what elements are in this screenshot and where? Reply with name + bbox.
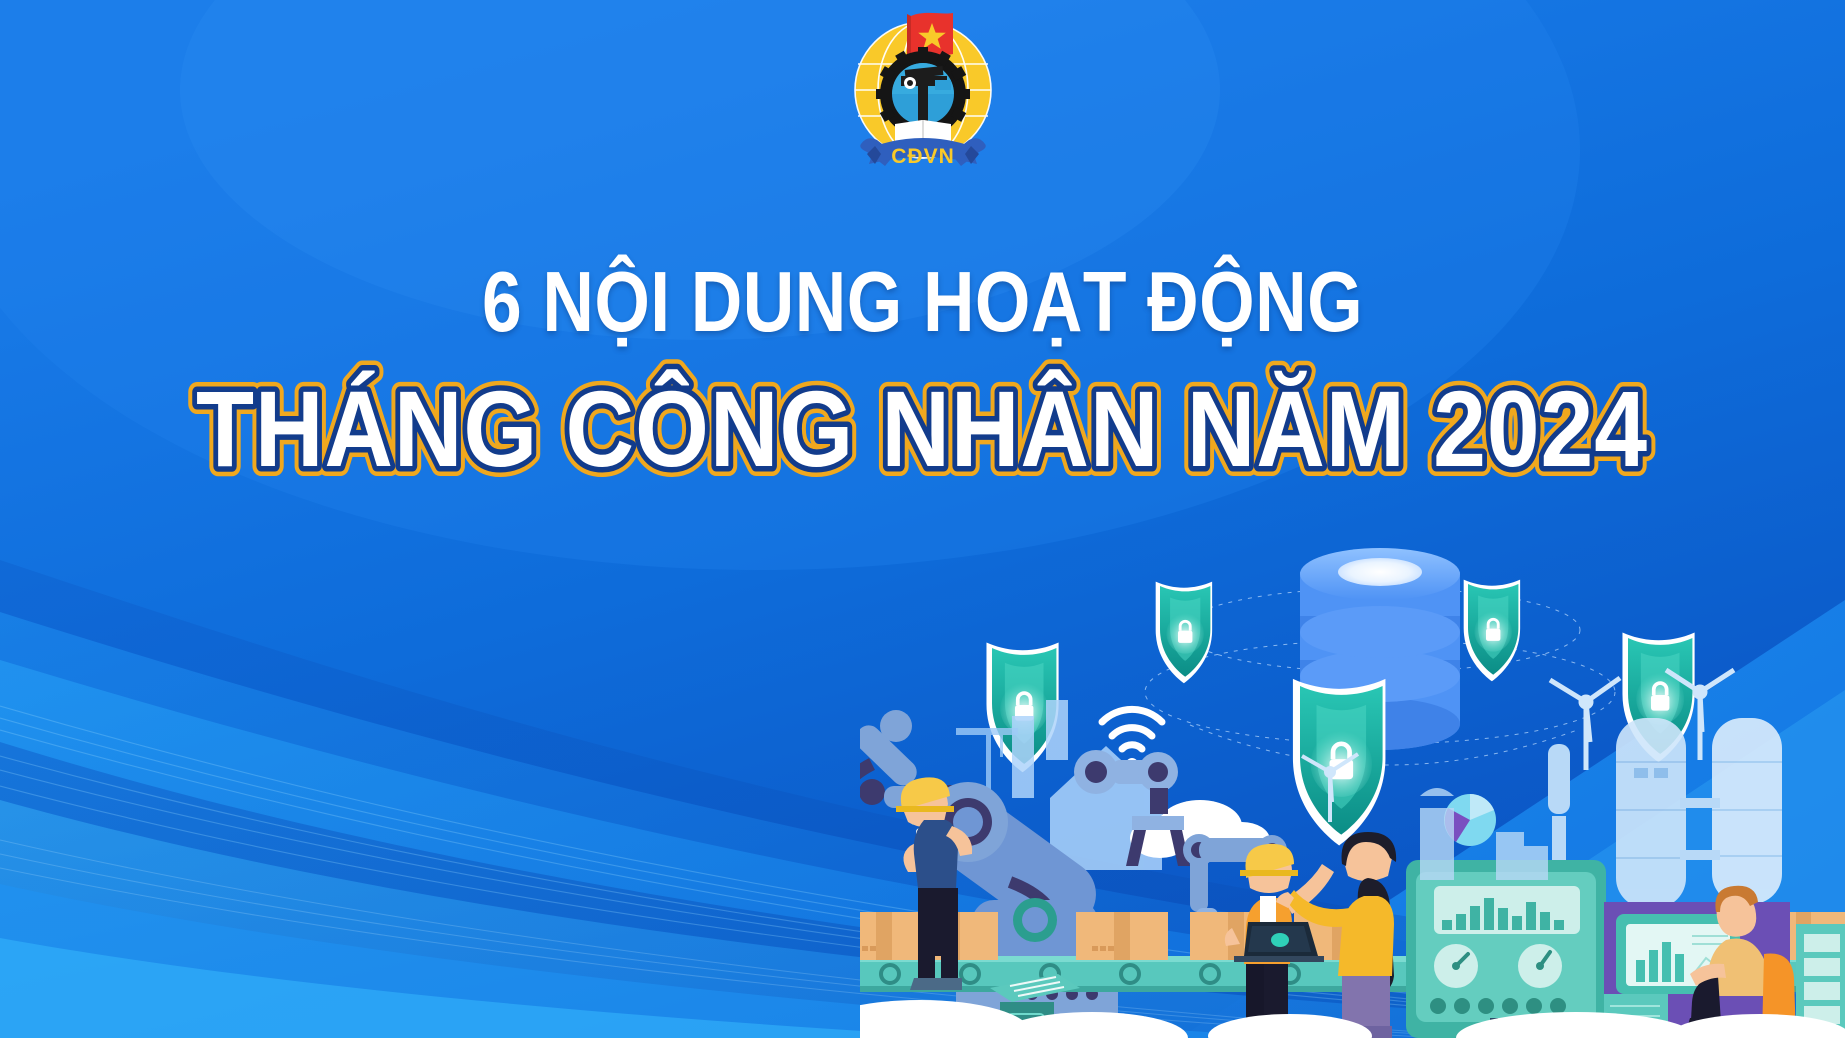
- title-line-2-layer-2: THÁNG CÔNG NHÂN NĂM 2024: [196, 368, 1648, 489]
- vgcl-emblem: CĐVN: [839, 6, 1007, 178]
- storage-tank: [1712, 718, 1782, 904]
- gauge-icon: [1518, 944, 1562, 988]
- security-shield-lock: [1464, 580, 1520, 682]
- poster-canvas: CĐVN 6 NỘI DUNG HOẠT ĐỘNG THÁNG CÔNG NHÂ…: [0, 0, 1845, 1038]
- control-panel: [1406, 860, 1606, 1038]
- security-shield-lock: [1293, 679, 1386, 846]
- industry-illustration-art: [860, 520, 1845, 1038]
- gauge-icon: [1434, 944, 1478, 988]
- emblem-icon: CĐVN: [839, 6, 1007, 178]
- security-shield-lock: [1156, 582, 1212, 684]
- industry-illustration: [860, 520, 1845, 1038]
- title-line-1: 6 NỘI DUNG HOẠT ĐỘNG: [148, 262, 1698, 344]
- emblem-banner-label: CĐVN: [891, 145, 955, 168]
- title-block: 6 NỘI DUNG HOẠT ĐỘNG THÁNG CÔNG NHÂN NĂM…: [0, 262, 1845, 486]
- storage-tank: [1616, 718, 1686, 908]
- title-line-2-art: THÁNG CÔNG NHÂN NĂM 2024THÁNG CÔNG NHÂN …: [0, 366, 1845, 506]
- title-line-2: THÁNG CÔNG NHÂN NĂM 2024THÁNG CÔNG NHÂN …: [0, 366, 1845, 486]
- cardboard-box: [1076, 912, 1168, 960]
